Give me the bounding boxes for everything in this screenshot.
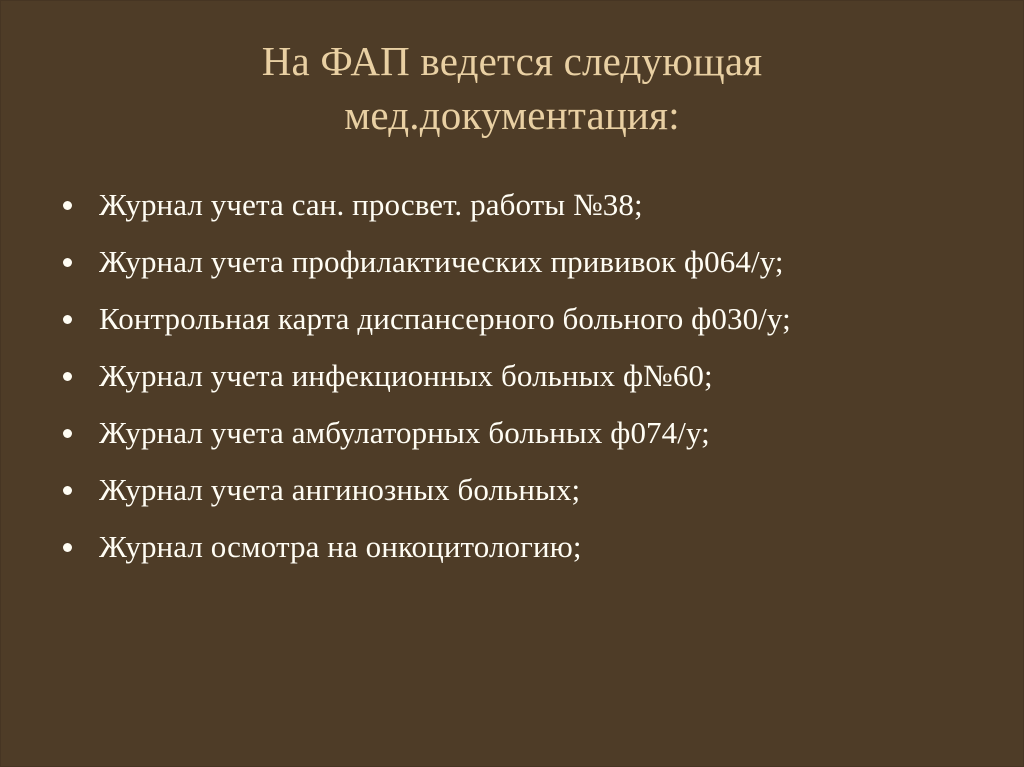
- list-item: Журнал учета амбулаторных больных ф074/у…: [48, 411, 992, 454]
- list-item-label: Журнал учета амбулаторных больных ф074/у…: [99, 411, 992, 454]
- list-item-label: Журнал осмотра на онкоцитологию;: [99, 525, 992, 568]
- list-item: Контрольная карта диспансерного больного…: [48, 297, 992, 340]
- bullet-point-icon: [63, 258, 72, 267]
- list-item-label: Журнал учета сан. просвет. работы №38;: [99, 183, 992, 226]
- list-item: Журнал учета инфекционных больных ф№60;: [48, 354, 992, 397]
- list-item: Журнал осмотра на онкоцитологию;: [48, 525, 992, 568]
- list-item-label: Контрольная карта диспансерного больного…: [99, 297, 992, 340]
- bullet-point-icon: [63, 372, 72, 381]
- bullet-point-icon: [63, 315, 72, 324]
- list-item: Журнал учета профилактических прививок ф…: [48, 240, 992, 283]
- bullet-point-icon: [63, 429, 72, 438]
- list-item-label: Журнал учета профилактических прививок ф…: [99, 240, 992, 283]
- list-item-label: Журнал учета ангинозных больных;: [99, 468, 992, 511]
- slide-title-line-2: мед.документация:: [60, 88, 964, 142]
- presentation-slide: На ФАП ведется следующая мед.документаци…: [0, 0, 1024, 767]
- list-item-label: Журнал учета инфекционных больных ф№60;: [99, 354, 992, 397]
- list-item: Журнал учета сан. просвет. работы №38;: [48, 183, 992, 226]
- documentation-list: Журнал учета сан. просвет. работы №38; Ж…: [48, 183, 992, 568]
- slide-title-line-1: На ФАП ведется следующая: [60, 34, 964, 88]
- slide-title: На ФАП ведется следующая мед.документаци…: [60, 34, 964, 142]
- bullet-point-icon: [63, 486, 72, 495]
- list-item: Журнал учета ангинозных больных;: [48, 468, 992, 511]
- bullet-point-icon: [63, 543, 72, 552]
- bullet-point-icon: [63, 201, 72, 210]
